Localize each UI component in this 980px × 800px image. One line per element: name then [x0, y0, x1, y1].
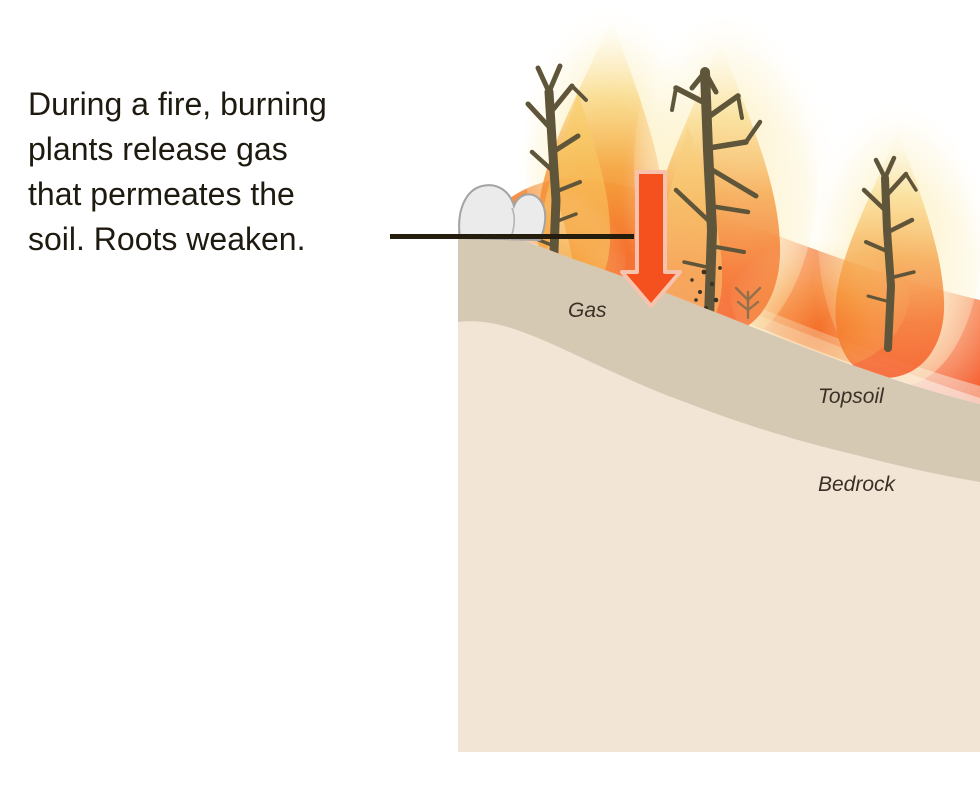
caption-leader-line [390, 234, 634, 239]
figure-caption: During a fire, burning plants release ga… [28, 82, 428, 262]
figure-canvas: Gas Topsoil Bedrock During a fire, burni… [0, 0, 980, 800]
label-topsoil: Topsoil [818, 385, 885, 408]
label-gas: Gas [568, 299, 607, 322]
label-bedrock: Bedrock [818, 473, 897, 496]
